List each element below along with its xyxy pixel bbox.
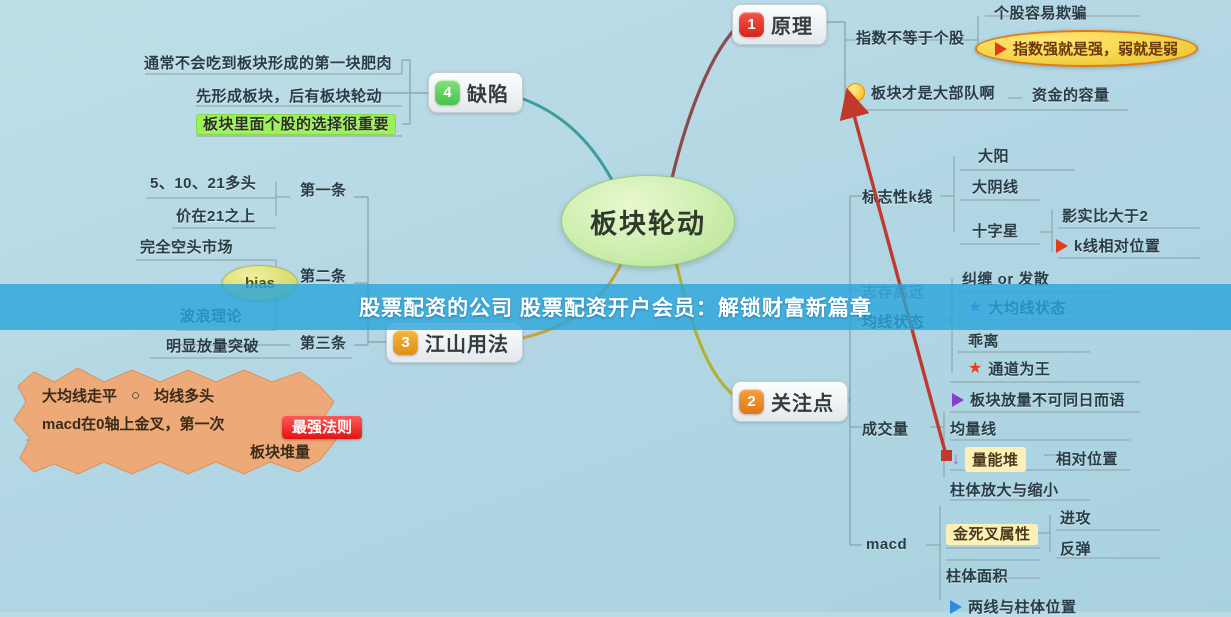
play-triangle-icon [950, 600, 962, 614]
branch-focus-badge: 2 [739, 389, 764, 414]
principle-strong-weak-node: 指数强就是强，弱就是弱 [975, 30, 1198, 67]
focus-volume-label: 成交量 [862, 418, 909, 439]
principle-sector-main-force: 板块才是大部队啊 [846, 82, 995, 103]
usage-rule1-item-2: 价在21之上 [176, 205, 256, 226]
focus-volume-item-2: ↓ 量能堆 [952, 447, 1026, 472]
branch-focus-label: 关注点 [771, 387, 834, 416]
focus-macd-item-1: 柱体面积 [946, 565, 1008, 586]
arrow-down-icon: ↓ [952, 452, 960, 468]
play-triangle-icon [952, 393, 964, 407]
star-icon: ★ [968, 361, 982, 377]
strongest-rule-badge[interactable]: 最强法则 [282, 416, 362, 437]
usage-rule-2-label: 第二条 [300, 265, 347, 286]
sector-volume-pile-label: 板块堆量 [250, 441, 310, 462]
usage-rule-3-label: 第三条 [300, 332, 347, 353]
focus-ma-item-5-label: 板块放量不可同日而语 [970, 389, 1125, 410]
defect-item-2: 先形成板块，后有板块轮动 [196, 85, 382, 106]
focus-kline-cross-child-2: k线相对位置 [1056, 235, 1160, 256]
principle-index-vs-stock: 指数不等于个股 [856, 27, 965, 48]
principle-strong-weak-label: 指数强就是强，弱就是弱 [1013, 38, 1178, 59]
focus-ma-item-3: 乖离 [968, 330, 999, 351]
branch-principle-badge: 1 [739, 12, 764, 37]
branch-defect-label: 缺陷 [467, 78, 509, 107]
focus-macd-attr-child-2: 反弹 [1060, 538, 1091, 559]
focus-volume-item-1: 均量线 [950, 418, 997, 439]
focus-macd-label: macd [866, 536, 907, 553]
branch-defect-badge: 4 [435, 80, 460, 105]
focus-ma-item-4: ★ 通道为王 [968, 358, 1050, 379]
usage-rule1-item-1: 5、10、21多头 [150, 172, 256, 193]
focus-kline-cross-child-2-label: k线相对位置 [1074, 235, 1160, 256]
focus-kline-item-2: 大阴线 [972, 176, 1019, 197]
watermark-banner: 股票配资的公司 股票配资开户会员：解锁财富新篇章 [0, 284, 1231, 330]
branch-defect[interactable]: 4 缺陷 [428, 72, 523, 113]
branch-usage-label: 江山用法 [425, 328, 509, 357]
burst-row-1: 大均线走平 ○ 均线多头 [42, 385, 310, 406]
focus-volume-item-2-label: 量能堆 [965, 447, 1026, 472]
burst-row-2: macd在0轴上金叉，第一次 [42, 413, 310, 434]
focus-ma-item-5: 板块放量不可同日而语 [952, 389, 1125, 410]
focus-volume-item-4: 柱体放大与缩小 [950, 479, 1059, 500]
defect-item-3: 板块里面个股的选择很重要 [196, 113, 396, 134]
principle-capital-capacity: 资金的容量 [1032, 84, 1110, 105]
watermark-banner-text: 股票配资的公司 股票配资开户会员：解锁财富新篇章 [359, 292, 872, 322]
focus-macd-item-2: 两线与柱体位置 [950, 596, 1077, 617]
principle-easy-deceive: 个股容易欺骗 [994, 2, 1087, 23]
focus-kline-item-3: 十字星 [972, 220, 1019, 241]
central-topic[interactable]: 板块轮动 [561, 175, 735, 267]
strongest-rule-label: 最强法则 [282, 416, 362, 439]
focus-macd-item-2-label: 两线与柱体位置 [968, 596, 1077, 617]
focus-macd-attribute: 金死叉属性 [946, 523, 1038, 544]
defect-item-1: 通常不会吃到板块形成的第一块肥肉 [144, 52, 392, 73]
usage-rule3-item-1: 明显放量突破 [166, 335, 259, 356]
branch-principle-label: 原理 [771, 10, 813, 39]
focus-macd-attr-child-1: 进攻 [1060, 507, 1091, 528]
smiley-face-icon [846, 83, 865, 102]
principle-sector-main-force-label: 板块才是大部队啊 [871, 82, 995, 103]
focus-volume-item-3: 相对位置 [1056, 448, 1118, 469]
dot-separator-icon: ○ [131, 387, 140, 404]
burst-row-3: 板块堆量 [42, 441, 310, 462]
branch-usage-badge: 3 [393, 330, 418, 355]
play-triangle-icon [1056, 239, 1068, 253]
central-topic-label: 板块轮动 [590, 202, 706, 241]
branch-focus[interactable]: 2 关注点 [732, 381, 848, 422]
focus-kline-cross-child-1: 影实比大于2 [1062, 205, 1148, 226]
usage-rule2-item-1: 完全空头市场 [140, 236, 233, 257]
focus-ma-item-4-label: 通道为王 [988, 358, 1050, 379]
branch-principle[interactable]: 1 原理 [732, 4, 827, 45]
macd-golden-cross-label: macd在0轴上金叉，第一次 [42, 413, 225, 434]
play-triangle-icon [995, 42, 1007, 56]
mindmap-canvas: 大均线走平 ○ 均线多头 macd在0轴上金叉，第一次 板块堆量 板块轮动 4 … [0, 0, 1231, 612]
focus-kline-item-1: 大阳 [978, 145, 1009, 166]
defect-item-3-label: 板块里面个股的选择很重要 [196, 114, 396, 135]
ma-bull-label: 均线多头 [154, 385, 214, 406]
ma-flat-label: 大均线走平 [42, 385, 117, 406]
usage-rule-1-label: 第一条 [300, 179, 347, 200]
focus-macd-attribute-label: 金死叉属性 [946, 524, 1038, 545]
focus-kline-label: 标志性k线 [862, 186, 933, 207]
